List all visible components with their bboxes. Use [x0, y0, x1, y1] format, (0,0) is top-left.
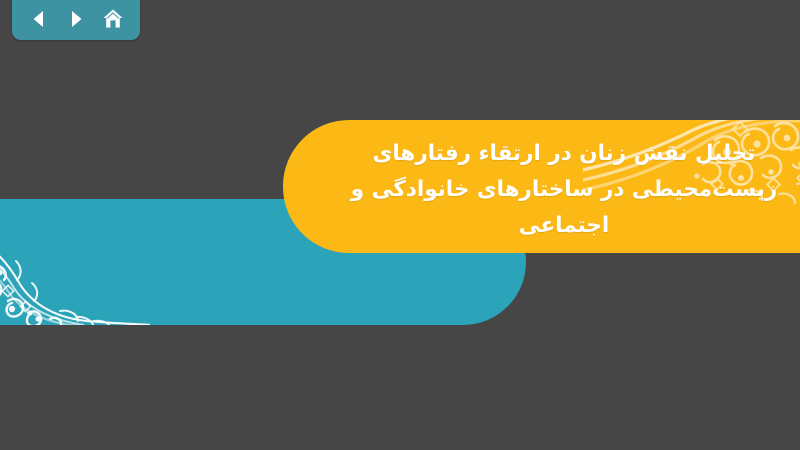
- back-triangle-icon: [29, 9, 49, 29]
- title-panel: تحلیل نقش زنان در ارتقاء رفتارهای زیست‌م…: [283, 120, 800, 253]
- home-house-icon: [102, 8, 124, 30]
- title-line-1: تحلیل نقش زنان در ارتقاء رفتارهای: [329, 136, 799, 172]
- forward-triangle-icon: [66, 9, 86, 29]
- title-line-3: اجتماعی: [329, 208, 799, 244]
- navigation-bar: [12, 0, 140, 40]
- slide-canvas: تحلیل نقش زنان در ارتقاء رفتارهای زیست‌م…: [0, 0, 800, 450]
- arabesque-ornament-teal-icon: [0, 199, 150, 325]
- forward-button[interactable]: [61, 5, 91, 33]
- back-button[interactable]: [24, 5, 54, 33]
- slide-title: تحلیل نقش زنان در ارتقاء رفتارهای زیست‌م…: [329, 136, 799, 244]
- home-button[interactable]: [98, 5, 128, 33]
- title-line-2: زیست‌محیطی در ساختارهای خانوادگی و: [329, 172, 799, 208]
